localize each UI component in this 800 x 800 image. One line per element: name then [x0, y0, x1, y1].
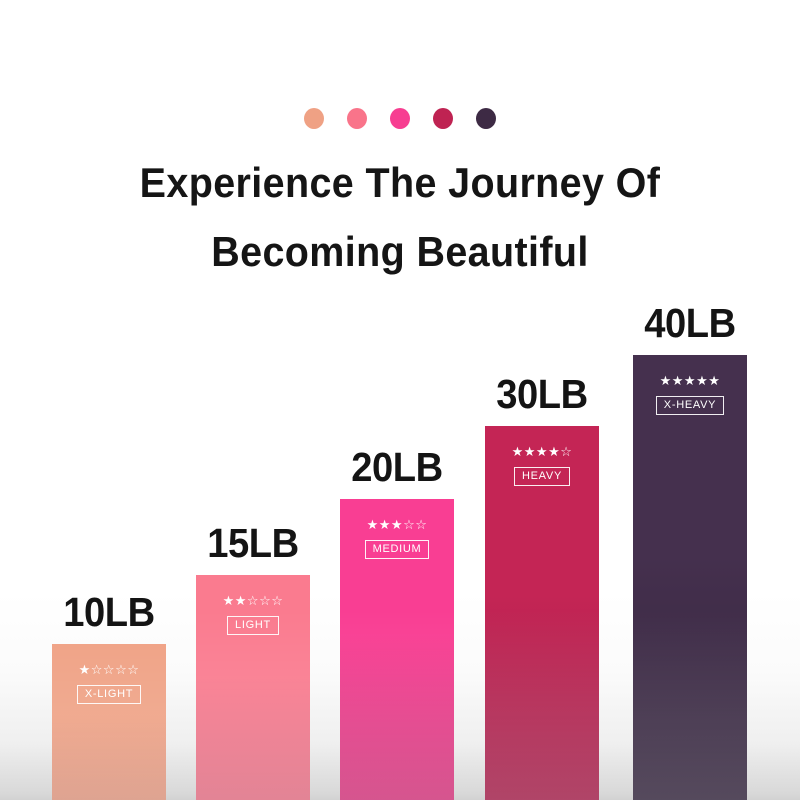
bar-column-light[interactable]: 15LB★★☆☆☆LIGHT — [196, 575, 310, 800]
bar-fill[interactable]: ★★★☆☆MEDIUM — [340, 499, 454, 800]
star-rating: ★☆☆☆☆ — [52, 664, 166, 678]
bar-content: ★★★★★X-HEAVY — [633, 355, 747, 415]
bar-content: ★★☆☆☆LIGHT — [196, 575, 310, 635]
star-rating: ★★★★☆ — [485, 446, 599, 460]
resistance-level-badge: MEDIUM — [365, 540, 430, 559]
bar-fill[interactable]: ★☆☆☆☆X-LIGHT — [52, 644, 166, 800]
bar-column-medium[interactable]: 20LB★★★☆☆MEDIUM — [340, 499, 454, 800]
bar-fill[interactable]: ★★★★★X-HEAVY — [633, 355, 747, 800]
bar-weight-label: 20LB — [337, 447, 458, 488]
resistance-level-badge: X-HEAVY — [656, 396, 724, 415]
bar-weight-label: 10LB — [49, 592, 170, 633]
bar-fill[interactable]: ★★★★☆HEAVY — [485, 426, 599, 800]
bar-content: ★★★★☆HEAVY — [485, 426, 599, 486]
bar-content: ★★★☆☆MEDIUM — [340, 499, 454, 559]
star-rating: ★★☆☆☆ — [196, 595, 310, 609]
bar-column-heavy[interactable]: 30LB★★★★☆HEAVY — [485, 426, 599, 800]
bar-column-x-heavy[interactable]: 40LB★★★★★X-HEAVY — [633, 355, 747, 800]
bar-fill[interactable]: ★★☆☆☆LIGHT — [196, 575, 310, 800]
bar-weight-label: 15LB — [193, 523, 314, 564]
bar-weight-label: 30LB — [482, 374, 603, 415]
bar-weight-label: 40LB — [630, 303, 751, 344]
resistance-level-badge: LIGHT — [227, 616, 279, 635]
resistance-bar-chart: 10LB★☆☆☆☆X-LIGHT15LB★★☆☆☆LIGHT20LB★★★☆☆M… — [0, 0, 800, 800]
resistance-band-infographic: Experience The Journey Of Becoming Beaut… — [0, 0, 800, 800]
bar-content: ★☆☆☆☆X-LIGHT — [52, 644, 166, 704]
resistance-level-badge: HEAVY — [514, 467, 570, 486]
bar-column-x-light[interactable]: 10LB★☆☆☆☆X-LIGHT — [52, 644, 166, 800]
resistance-level-badge: X-LIGHT — [77, 685, 141, 704]
star-rating: ★★★☆☆ — [340, 519, 454, 533]
star-rating: ★★★★★ — [633, 375, 747, 389]
